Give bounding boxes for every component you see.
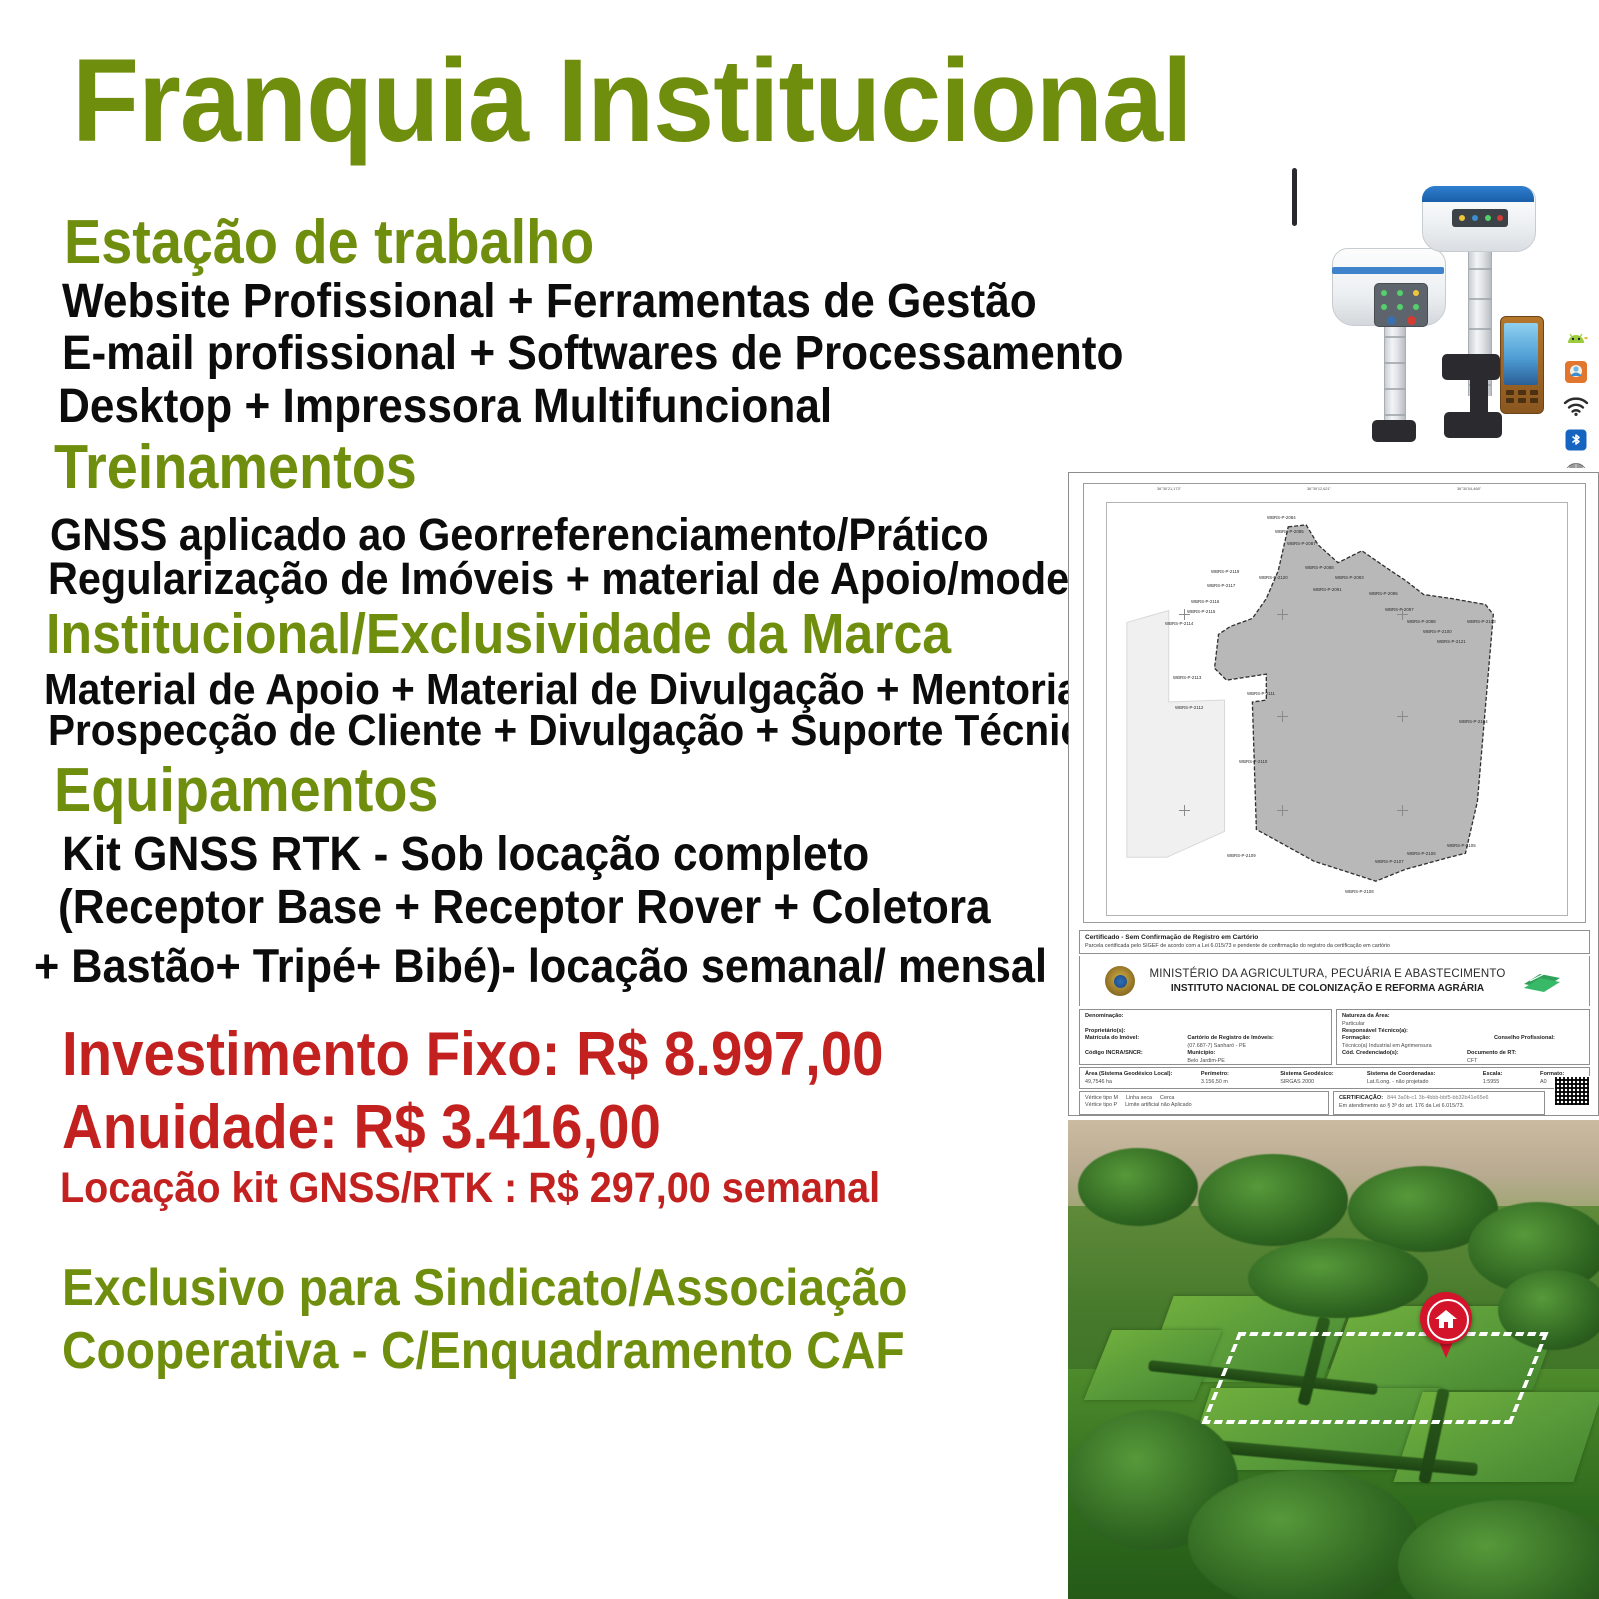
vertex-label: WBRS-P-2093 — [1335, 575, 1364, 580]
grid-cross — [1179, 805, 1190, 816]
cadastral-map-frame: 36°30'21,173" 36°39'12,621" 36°30'04,468… — [1083, 483, 1586, 923]
property-location-pin — [1420, 1292, 1472, 1362]
certification-code: 844 3a0b-c1 3b-4bbb-bbf5-bb32b41e65e6 — [1387, 1095, 1488, 1103]
gnss-equipment-photo — [1292, 168, 1599, 468]
closing-line-2: Cooperativa - C/Enquadramento CAF — [62, 1325, 905, 1377]
field-value: 1:5955 — [1483, 1079, 1534, 1086]
tripod-leg — [1470, 374, 1488, 434]
vertex-label: WBRS-P-2084 — [1267, 515, 1296, 520]
field-value: Particular — [1342, 1021, 1584, 1028]
property-boundary-outline — [1201, 1332, 1548, 1424]
qr-code — [1554, 1076, 1590, 1106]
vertex-label: WBRS-P-2114 — [1165, 621, 1193, 626]
pole-clamp-back — [1372, 420, 1416, 442]
vertex-label: WBRS-P-2112 — [1175, 705, 1203, 710]
closing-line-1: Exclusivo para Sindicato/Associação — [62, 1262, 908, 1314]
vertex-label: WBRS-P-2085 — [1275, 529, 1304, 534]
ministry-name: MINISTÉRIO DA AGRICULTURA, PECUÁRIA E AB… — [1149, 968, 1505, 980]
vertex-label: WBRS-P-2110 — [1239, 759, 1267, 764]
field-label: Perímetro: — [1201, 1071, 1274, 1079]
section-line: Desktop + Impressora Multifuncional — [58, 383, 832, 431]
vertex-label: WBRS-P-2116 — [1191, 599, 1219, 604]
vertex-label: WBRS-P-2117 — [1207, 583, 1235, 588]
incra-logo-icon — [1520, 968, 1564, 994]
price-fixed-investment: Investimento Fixo: R$ 8.997,00 — [62, 1024, 884, 1086]
vertex-label: WBRS-P-2105 — [1447, 843, 1476, 848]
receiver-blue-band-rover — [1422, 186, 1534, 202]
vertex-label: WBRS-P-2106 — [1407, 851, 1436, 856]
note-text: Parcela certificada pelo SIGEF de acordo… — [1085, 943, 1584, 949]
vertex-label: WBRS-P-2097 — [1385, 607, 1414, 612]
section-heading-institucional-exclusividade: Institucional/Exclusividade da Marca — [46, 606, 951, 663]
section-line: GNSS aplicado ao Georreferenciamento/Prá… — [50, 512, 989, 557]
field-value — [1085, 1043, 1177, 1050]
tree-clump — [1078, 1148, 1198, 1226]
vertex-label: WBRS-P-2121 — [1437, 639, 1466, 644]
coord-label-top: 36°30'04,468" — [1457, 486, 1481, 491]
field-label: Natureza da Área: — [1342, 1013, 1584, 1021]
certificate-fields-left: Denominação: Proprietário(s): Matrícula … — [1079, 1009, 1332, 1065]
app-icon — [1562, 358, 1590, 386]
field-label: Cartório de Registro de Imóveis: — [1187, 1035, 1326, 1043]
page-title: Franquia Institucional — [72, 42, 1192, 160]
vertex-label: WBRS-P-2111 — [1247, 691, 1275, 696]
section-line: (Receptor Base + Receptor Rover + Coleto… — [58, 884, 991, 932]
field-value — [1085, 1058, 1177, 1065]
certificate-fields-right: Natureza da Área: Particular Responsável… — [1336, 1009, 1590, 1065]
incra-name: INSTITUTO NACIONAL DE COLONIZAÇÃO E REFO… — [1149, 983, 1505, 994]
certificate-fields-bottom: Área (Sistema Geodésico Local): 49,7546 … — [1079, 1067, 1590, 1089]
ministry-text-block: MINISTÉRIO DA AGRICULTURA, PECUÁRIA E AB… — [1149, 968, 1505, 994]
field-value — [1342, 1058, 1459, 1065]
cadastral-map-canvas: WBRS-P-2084 WBRS-P-2085 WBRS-P-2087 WBRS… — [1106, 502, 1568, 916]
legend-label: Vértice tipo P — [1085, 1102, 1117, 1109]
field-label: Responsável Técnico(a): — [1342, 1028, 1584, 1036]
price-annual-fee: Anuidade: R$ 3.416,00 — [62, 1097, 661, 1159]
grid-cross — [1397, 805, 1408, 816]
section-heading-estacao-de-trabalho: Estação de trabalho — [64, 212, 594, 274]
certificate-certification: CERTIFICAÇÃO: 844 3a0b-c1 3b-4bbb-bbf5-b… — [1333, 1091, 1545, 1115]
vertex-label: WBRS-P-2119 — [1211, 569, 1239, 574]
field-value: (07.687-7) Sanharó - PE — [1187, 1043, 1326, 1050]
section-line: Regularização de Imóveis + material de A… — [48, 556, 1129, 601]
vertex-label: WBRS-P-2109 — [1227, 853, 1256, 858]
field-label: Documento de RT: — [1467, 1050, 1584, 1058]
satellite-icon — [1562, 460, 1590, 468]
vertex-label: WBRS-P-2098 — [1407, 619, 1436, 624]
legend-value: Linha seca — [1126, 1095, 1152, 1102]
bluetooth-icon — [1562, 426, 1590, 454]
vertex-label: WBRS-P-2113 — [1173, 675, 1201, 680]
grid-cross — [1277, 805, 1288, 816]
field-label: Denominação: — [1085, 1013, 1326, 1021]
coord-label-top: 36°30'21,173" — [1157, 486, 1181, 491]
ministry-header: MINISTÉRIO DA AGRICULTURA, PECUÁRIA E AB… — [1079, 956, 1590, 1006]
certification-note: Em atendimento ao § 3º do art. 176 da Le… — [1339, 1103, 1539, 1110]
field-value: 49,7546 ha — [1085, 1079, 1195, 1086]
aerial-property-photo — [1068, 1120, 1599, 1599]
grid-cross — [1277, 609, 1288, 620]
section-heading-treinamentos: Treinamentos — [54, 437, 417, 499]
field-value: Técnico(a) Industrial em Agrimensura — [1342, 1043, 1486, 1050]
field-label: Matrícula do Imóvel: — [1085, 1035, 1177, 1043]
field-label: Área (Sistema Geodésico Local): — [1085, 1071, 1195, 1079]
note-title: Certificado - Sem Confirmação de Registr… — [1085, 934, 1584, 941]
feature-icon-column — [1554, 324, 1598, 468]
field-label: Conselho Profissional: — [1494, 1035, 1584, 1043]
field-value: 3.156,50 m — [1201, 1079, 1274, 1086]
wifi-icon — [1562, 392, 1590, 420]
legend-value: Limite artificial não Aplicado — [1125, 1102, 1192, 1109]
vertex-label: WBRS-P-2104 — [1459, 719, 1488, 724]
tree-clump — [1248, 1238, 1428, 1318]
receiver-antenna-rod — [1292, 168, 1297, 226]
vertex-label: WBRS-P-2088 — [1305, 565, 1334, 570]
receiver-control-panel-rover — [1452, 209, 1508, 227]
tree-clump — [1188, 1470, 1418, 1599]
tree-clump — [1198, 1154, 1348, 1246]
field-label: Escala: — [1483, 1071, 1534, 1079]
vertex-label: WBRS-P-2091 — [1313, 587, 1342, 592]
house-icon — [1434, 1308, 1458, 1330]
field-label: Cód. Credenciado(s): — [1342, 1050, 1459, 1058]
field-value: SIRGAS 2000 — [1280, 1079, 1361, 1086]
section-line: Website Profissional + Ferramentas de Ge… — [62, 278, 1037, 326]
field-value — [1085, 1021, 1326, 1028]
price-kit-rental: Locação kit GNSS/RTK : R$ 297,00 semanal — [60, 1167, 880, 1210]
certification-label: CERTIFICAÇÃO: — [1339, 1095, 1383, 1103]
certificate-legend: Vértice tipo M Linha seca Cerca Vértice … — [1079, 1091, 1329, 1115]
vertex-label: WBRS-P-2103 — [1467, 619, 1496, 624]
field-label: Sistema de Coordenadas: — [1367, 1071, 1477, 1079]
grid-cross — [1277, 711, 1288, 722]
coord-label-top: 36°39'12,621" — [1307, 486, 1331, 491]
field-value: CFT — [1467, 1058, 1584, 1065]
collector-screen — [1504, 323, 1538, 385]
brasao-republica-icon — [1105, 966, 1135, 996]
receiver-blue-band-base — [1332, 267, 1444, 274]
certificate-registration-note: Certificado - Sem Confirmação de Registr… — [1079, 930, 1590, 954]
field-label: Sistema Geodésico: — [1280, 1071, 1361, 1079]
section-line: Prospecção de Cliente + Divulgação + Sup… — [48, 709, 1108, 753]
field-value — [1494, 1043, 1584, 1050]
vertex-label: WBRS-P-2087 — [1287, 541, 1316, 546]
vertex-label: WBRS-P-2107 — [1375, 859, 1404, 864]
field-label: Código INCRA/SNCR: — [1085, 1050, 1177, 1058]
legend-value: Cerca — [1160, 1095, 1174, 1102]
receiver-control-panel-base — [1374, 283, 1428, 327]
section-line: E-mail profissional + Softwares de Proce… — [62, 330, 1123, 378]
vertex-label: WBRS-P-2100 — [1423, 629, 1452, 634]
field-value: Belo Jardim-PE — [1187, 1058, 1326, 1065]
vertex-label: WBRS-P-2095 — [1369, 591, 1398, 596]
poster-root: Franquia Institucional Estação de trabal… — [0, 0, 1599, 1599]
field-label: Proprietário(s): — [1085, 1028, 1326, 1036]
legend-label: Vértice tipo M — [1085, 1095, 1118, 1102]
vertex-label: WBRS-P-2108 — [1345, 889, 1374, 894]
section-heading-equipamentos: Equipamentos — [54, 760, 438, 822]
android-icon — [1562, 324, 1590, 352]
grid-cross — [1397, 711, 1408, 722]
field-value: Lat./Long. - não projetado — [1367, 1079, 1477, 1086]
vertex-label: WBRS-P-2120 — [1259, 575, 1288, 580]
incra-certificate: 36°30'21,173" 36°39'12,621" 36°30'04,468… — [1068, 472, 1599, 1116]
section-line: Kit GNSS RTK - Sob locação completo — [62, 831, 869, 879]
field-label: Município: — [1187, 1050, 1326, 1058]
vertex-label: WBRS-P-2115 — [1187, 609, 1215, 614]
section-line: + Bastão+ Tripé+ Bibé)- locação semanal/… — [34, 942, 1047, 989]
field-label: Formação: — [1342, 1035, 1486, 1043]
